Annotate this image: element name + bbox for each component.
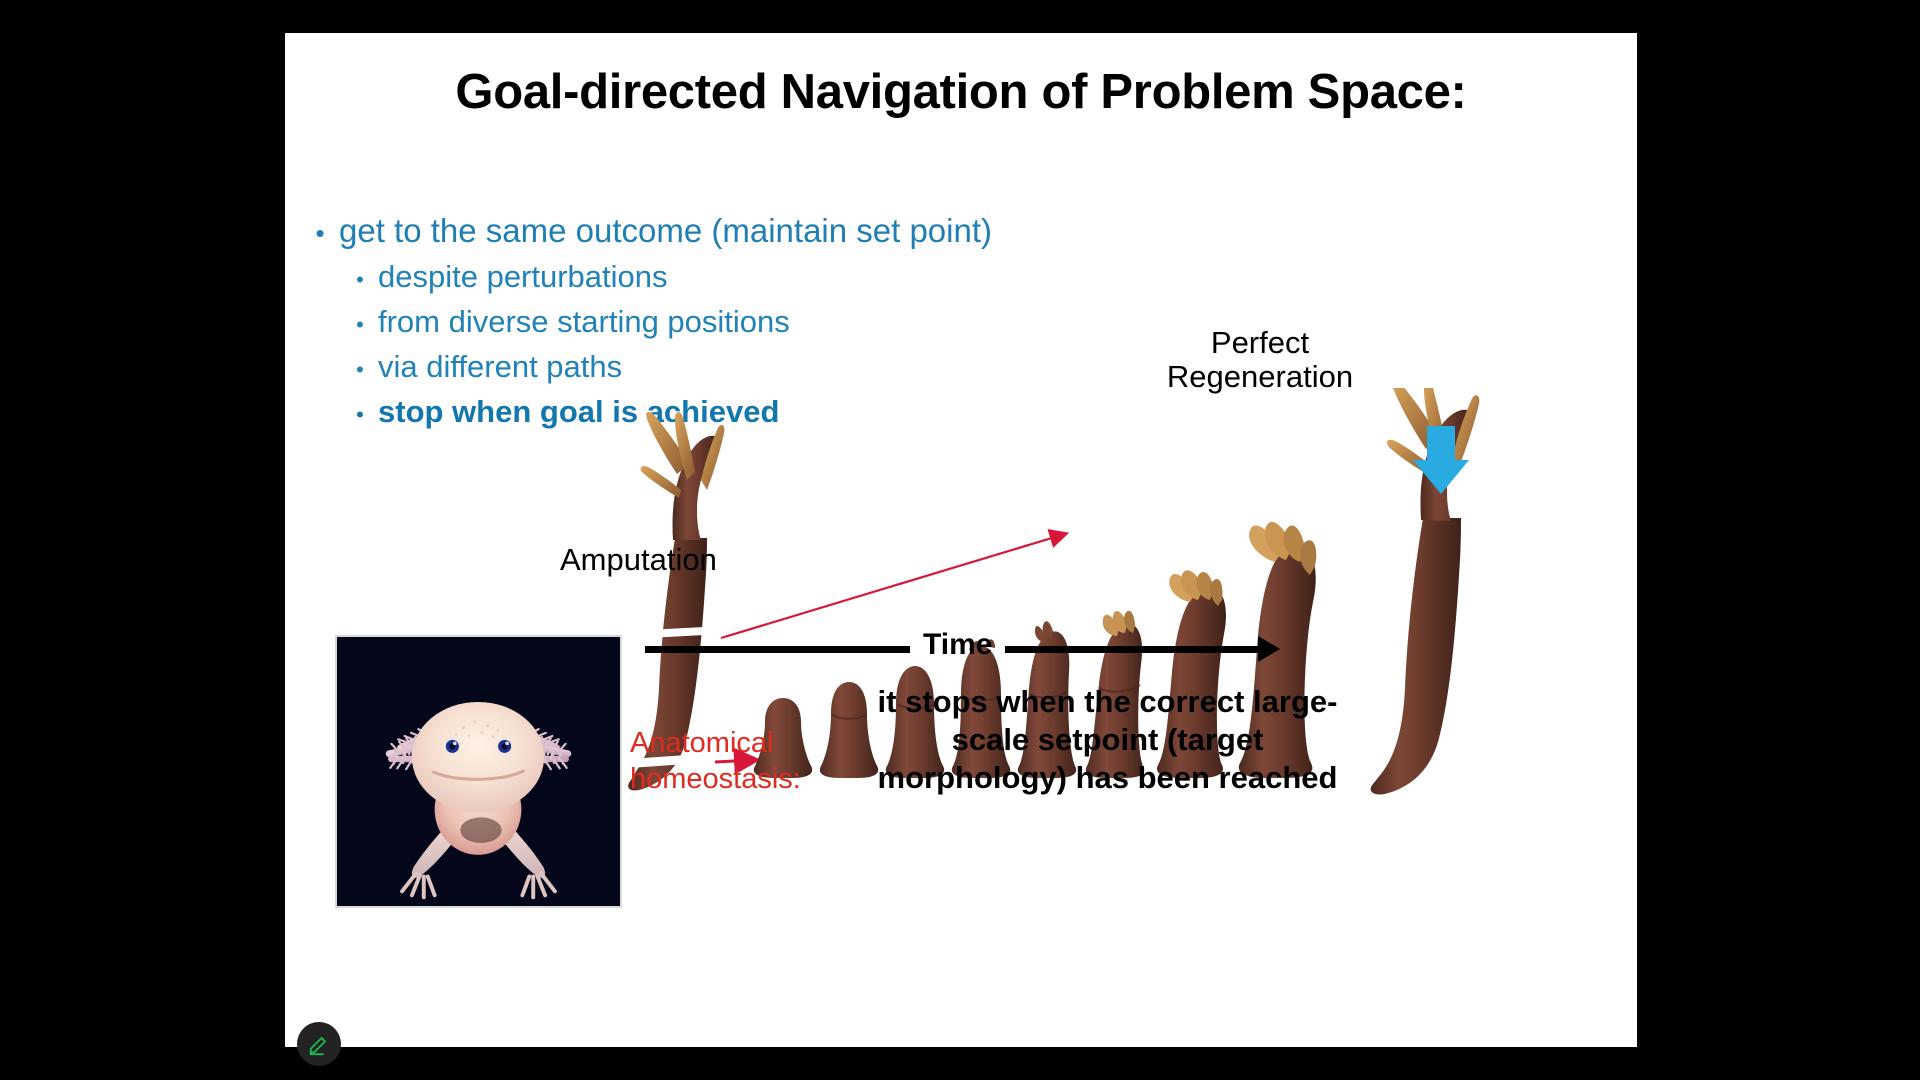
setpoint-caption: it stops when the correct large-scale se… xyxy=(870,683,1345,797)
anatomical-homeostasis-caption: Anatomical homeostasis: xyxy=(630,725,820,797)
bullet-item-2: • from diverse starting positions xyxy=(285,301,1245,346)
time-axis: Time xyxy=(645,623,1260,667)
bullet-dot-icon: • xyxy=(342,259,378,301)
bullet-label: via different paths xyxy=(378,346,622,388)
bullet-item-1: • despite perturbations xyxy=(285,256,1245,301)
bullet-label: get to the same outcome (maintain set po… xyxy=(339,208,992,253)
annotate-button[interactable] xyxy=(297,1022,341,1066)
bullet-item-0: • get to the same outcome (maintain set … xyxy=(285,208,1245,256)
time-axis-left-segment xyxy=(645,646,910,653)
slide-canvas: Goal-directed Navigation of Problem Spac… xyxy=(285,33,1637,1047)
pencil-icon xyxy=(307,1032,331,1056)
bullet-dot-icon: • xyxy=(301,211,339,256)
bullet-item-3: • via different paths xyxy=(285,346,1245,391)
amputation-label: Amputation xyxy=(560,542,717,578)
bullet-label: despite perturbations xyxy=(378,256,668,298)
presentation-screen: Goal-directed Navigation of Problem Spac… xyxy=(0,0,1920,1080)
bullet-dot-icon: • xyxy=(342,304,378,346)
time-axis-right-segment-with-arrow xyxy=(1005,646,1260,653)
bullet-dot-icon: • xyxy=(342,394,378,436)
page-title: Goal-directed Navigation of Problem Spac… xyxy=(325,67,1597,118)
bullet-dot-icon: • xyxy=(342,349,378,391)
axolotl-photo xyxy=(335,635,622,908)
time-axis-label: Time xyxy=(910,628,1005,662)
perfect-regeneration-label: Perfect Regeneration xyxy=(1130,326,1390,394)
bullet-label: from diverse starting positions xyxy=(378,301,790,343)
